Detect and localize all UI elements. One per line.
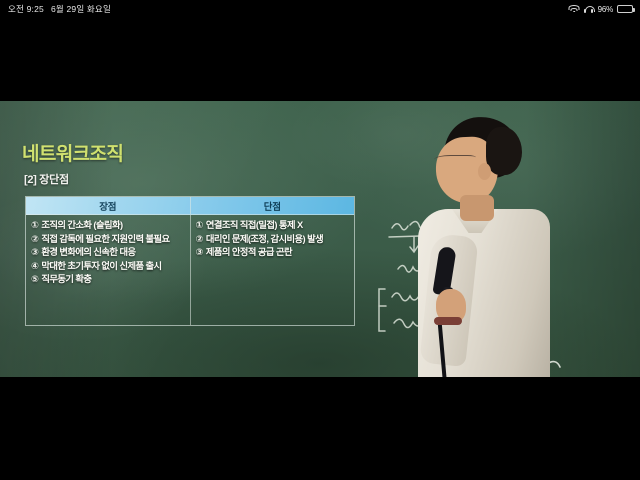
battery-percent-label: 96%	[598, 5, 613, 14]
list-item-number: ①	[31, 219, 38, 232]
list-item-number: ②	[31, 233, 38, 246]
list-item: ① 연결조직 직접(밀접) 통제 X	[196, 219, 350, 232]
list-item-label: 제품의 안정적 공급 곤란	[206, 246, 349, 259]
instructor-ear	[478, 163, 491, 180]
list-item: ③ 제품의 안정적 공급 곤란	[196, 246, 350, 259]
table-body: ① 조직의 간소화 (슬림화) ② 직접 감독에 필요한 지원인력 불필요 ③ …	[26, 215, 354, 325]
list-item-label: 직무동기 확충	[41, 273, 184, 286]
list-item-number: ②	[196, 233, 203, 246]
list-item-number: ③	[196, 246, 203, 259]
headphones-icon	[584, 5, 594, 14]
video-frame[interactable]: 네트워크조직 [2] 장단점 장점 단점 ① 조직의 간소화 (슬림화) ②	[0, 101, 640, 377]
lecture-slide: 네트워크조직 [2] 장단점 장점 단점 ① 조직의 간소화 (슬림화) ②	[0, 101, 400, 377]
status-bar: 오전 9:25 6월 29일 화요일 96%	[0, 0, 640, 18]
list-item: ② 대리인 문제(조정, 감시비용) 발생	[196, 233, 350, 246]
list-item-label: 환경 변화에의 신속한 대응	[41, 246, 184, 259]
list-item-number: ①	[196, 219, 203, 232]
list-item: ③ 환경 변화에의 신속한 대응	[31, 246, 185, 259]
pros-cons-table: 장점 단점 ① 조직의 간소화 (슬림화) ② 직접 감독에 필요한 지원인력 …	[25, 196, 355, 326]
list-item-label: 막대한 초기투자 없이 신제품 출시	[41, 260, 184, 273]
list-item-label: 직접 감독에 필요한 지원인력 불필요	[41, 233, 184, 246]
list-item: ⑤ 직무동기 확충	[31, 273, 185, 286]
list-item-label: 연결조직 직접(밀접) 통제 X	[206, 219, 349, 232]
battery-icon	[617, 5, 633, 13]
wifi-icon	[569, 5, 580, 14]
list-item-number: ⑤	[31, 273, 38, 286]
instructor-hair-back	[486, 127, 522, 175]
glasses-icon	[434, 155, 476, 167]
status-time: 오전 9:25	[8, 3, 44, 15]
list-item-number: ④	[31, 260, 38, 273]
slide-title: 네트워크조직	[22, 139, 123, 166]
table-cell-cons: ① 연결조직 직접(밀접) 통제 X ② 대리인 문제(조정, 감시비용) 발생…	[191, 215, 355, 325]
list-item-label: 대리인 문제(조정, 감시비용) 발생	[206, 233, 349, 246]
wristwatch	[434, 317, 462, 325]
instructor	[400, 111, 560, 377]
slide-subtitle: [2] 장단점	[24, 171, 69, 187]
table-cell-pros: ① 조직의 간소화 (슬림화) ② 직접 감독에 필요한 지원인력 불필요 ③ …	[26, 215, 191, 325]
table-header-row: 장점 단점	[26, 197, 354, 215]
list-item-label: 조직의 간소화 (슬림화)	[41, 219, 184, 232]
video-stage[interactable]: 네트워크조직 [2] 장단점 장점 단점 ① 조직의 간소화 (슬림화) ②	[0, 18, 640, 480]
table-header-cons: 단점	[191, 197, 355, 214]
status-date: 6월 29일 화요일	[51, 3, 111, 15]
list-item-number: ③	[31, 246, 38, 259]
list-item: ① 조직의 간소화 (슬림화)	[31, 219, 185, 232]
status-bar-right: 96%	[569, 5, 640, 14]
list-item: ④ 막대한 초기투자 없이 신제품 출시	[31, 260, 185, 273]
status-bar-left: 오전 9:25 6월 29일 화요일	[0, 3, 111, 15]
list-item: ② 직접 감독에 필요한 지원인력 불필요	[31, 233, 185, 246]
instructor-neck	[460, 195, 494, 221]
table-header-pros: 장점	[26, 197, 191, 214]
